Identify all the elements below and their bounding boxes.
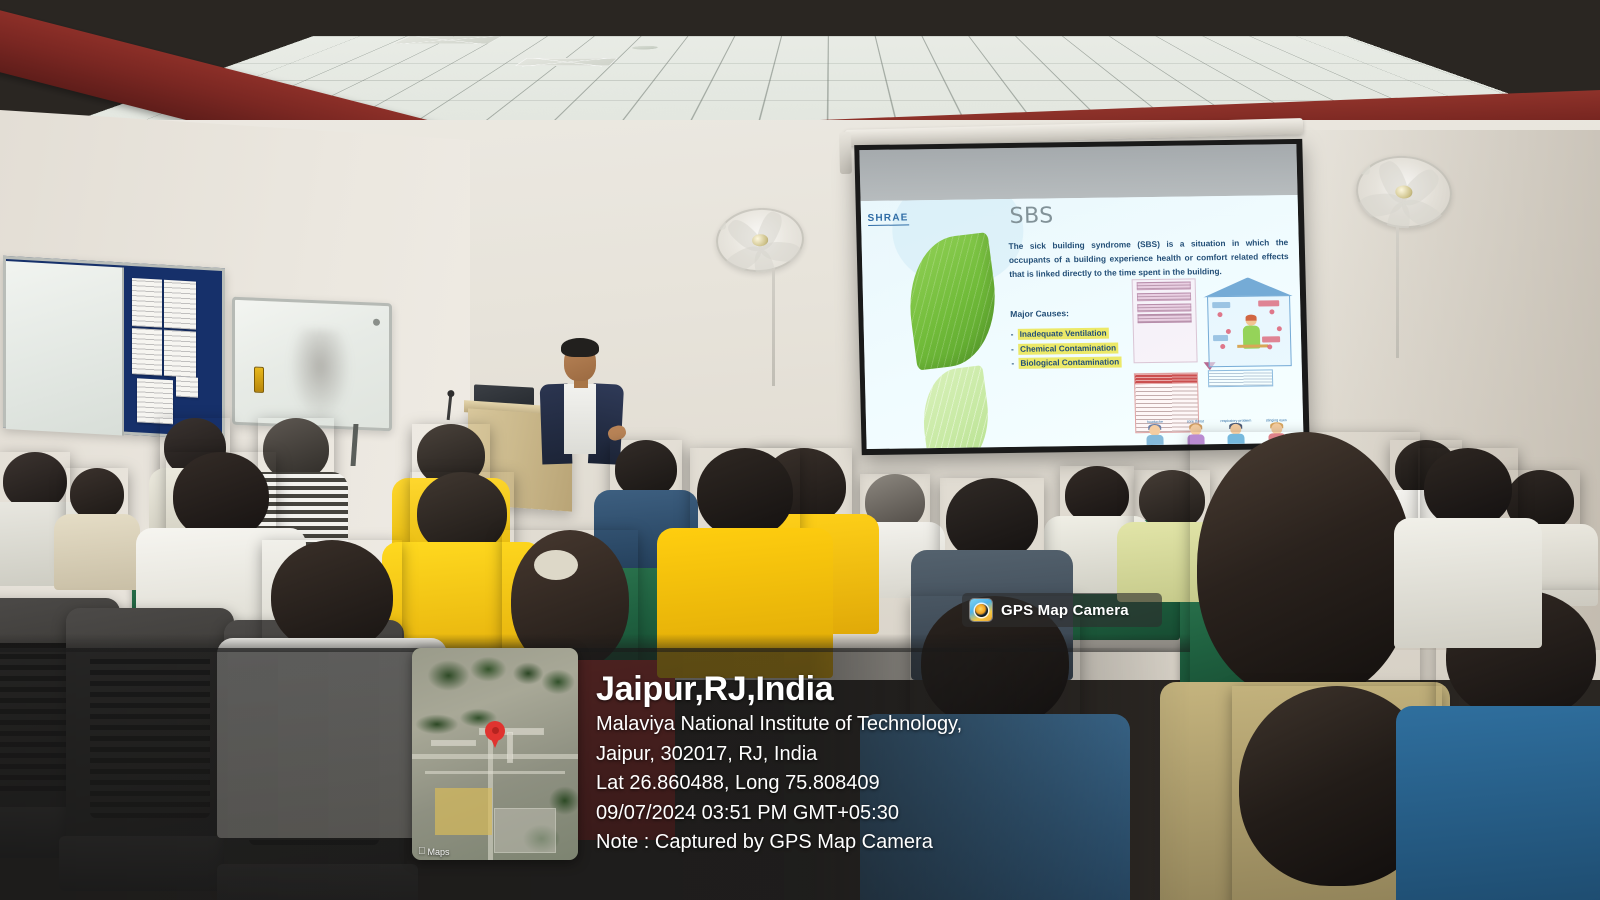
audience-member	[1418, 448, 1518, 618]
map-attribution:  Maps	[418, 847, 450, 857]
audience-member	[66, 468, 128, 568]
note-box	[1208, 369, 1273, 387]
flow-chart	[1131, 278, 1198, 363]
leaf-graphic	[917, 365, 995, 449]
whiteboard-knob	[373, 319, 380, 326]
hair-tie	[534, 550, 578, 580]
audience-member	[410, 472, 514, 636]
projection-screen: SHRAE SBS The sick building syndrome (SB…	[854, 139, 1310, 455]
cause-label: Inadequate Ventilation	[1018, 328, 1109, 340]
location-city: Jaipur,RJ,India	[596, 670, 1176, 708]
audience-member	[690, 448, 800, 658]
fan-mount	[714, 219, 726, 231]
fan-cage	[714, 205, 806, 275]
notice-paper	[132, 278, 162, 328]
person-illustration	[1241, 316, 1263, 354]
slide-title: SBS	[1009, 203, 1054, 229]
ceiling-speaker	[630, 46, 659, 50]
causes-list: Inadequate Ventilation Chemical Contamin…	[1011, 329, 1126, 374]
cause-label: Chemical Contamination	[1018, 342, 1118, 354]
audience-member	[166, 452, 276, 622]
camera-lens-icon	[970, 599, 992, 621]
location-address-line-2: Jaipur, 302017, RJ, India	[596, 740, 1176, 770]
satellite-map-image	[412, 648, 578, 860]
notice-paper	[176, 376, 198, 397]
wall-fan	[1353, 152, 1455, 232]
photograph: SHRAE SBS The sick building syndrome (SB…	[0, 0, 1600, 900]
cause-item: Chemical Contamination	[1011, 343, 1125, 354]
ashrae-logo: SHRAE	[867, 213, 908, 227]
house-body	[1207, 295, 1292, 368]
para-text: The	[1008, 240, 1029, 250]
slide-infographic	[1131, 277, 1296, 403]
whiteboard-marker	[254, 367, 264, 393]
map-pin-icon	[485, 721, 505, 748]
location-address-line-1: Malaviya National Institute of Technolog…	[596, 710, 1176, 740]
para-bold: building	[1074, 253, 1107, 263]
notice-paper	[164, 280, 196, 330]
notice-board	[3, 256, 225, 440]
screen-blank-band	[859, 144, 1297, 201]
gps-badge-label: GPS Map Camera	[1001, 602, 1129, 619]
sliding-whiteboard-panel	[6, 261, 124, 436]
presentation-slide: SHRAE SBS The sick building syndrome (SB…	[861, 195, 1304, 449]
wall-fan	[714, 205, 806, 275]
whiteboard	[232, 297, 392, 432]
apple-logo-icon: 	[418, 847, 426, 857]
house-illustration	[1202, 277, 1295, 368]
fan-hub	[752, 234, 769, 247]
para-text: .	[1219, 266, 1222, 276]
para-bold: building	[1187, 266, 1220, 276]
projection-surface: SHRAE SBS The sick building syndrome (SB…	[859, 144, 1303, 449]
causes-heading: Major Causes:	[1010, 308, 1069, 319]
cause-item: Biological Contamination	[1011, 358, 1125, 369]
ceiling-vent	[515, 58, 618, 66]
map-thumbnail[interactable]:  Maps	[412, 648, 578, 860]
capture-timestamp: 09/07/2024 03:51 PM GMT+05:30	[596, 799, 1176, 829]
cause-item: Inadequate Ventilation	[1011, 329, 1125, 340]
gps-map-camera-badge: GPS Map Camera	[962, 593, 1162, 627]
gps-info-block: Jaipur,RJ,India Malaviya National Instit…	[596, 670, 1176, 858]
ceiling-vent	[392, 36, 502, 43]
cause-label: Biological Contamination	[1018, 357, 1121, 369]
presenter-hair	[561, 338, 599, 357]
slide-paragraph: The sick building syndrome (SBS) is a si…	[1008, 235, 1289, 282]
map-attribution-label: Maps	[428, 847, 450, 857]
location-coordinates: Lat 26.860488, Long 75.808409	[596, 769, 1176, 799]
capture-note: Note : Captured by GPS Map Camera	[596, 828, 1176, 858]
gps-overlay-panel:  Maps Jaipur,RJ,India Malaviya National…	[0, 648, 1190, 900]
notice-paper	[132, 328, 162, 376]
map-highlight-area	[435, 788, 491, 835]
fan-support-rod	[1396, 226, 1399, 358]
para-bold: sick building syndrome	[1030, 239, 1131, 250]
fan-cage	[1353, 152, 1455, 232]
symptom-figure: headache	[1139, 420, 1172, 447]
presenter-shirt	[564, 384, 596, 454]
notice-paper	[164, 330, 196, 378]
presenter-shadow	[289, 328, 351, 423]
fan-support-rod	[772, 268, 775, 386]
